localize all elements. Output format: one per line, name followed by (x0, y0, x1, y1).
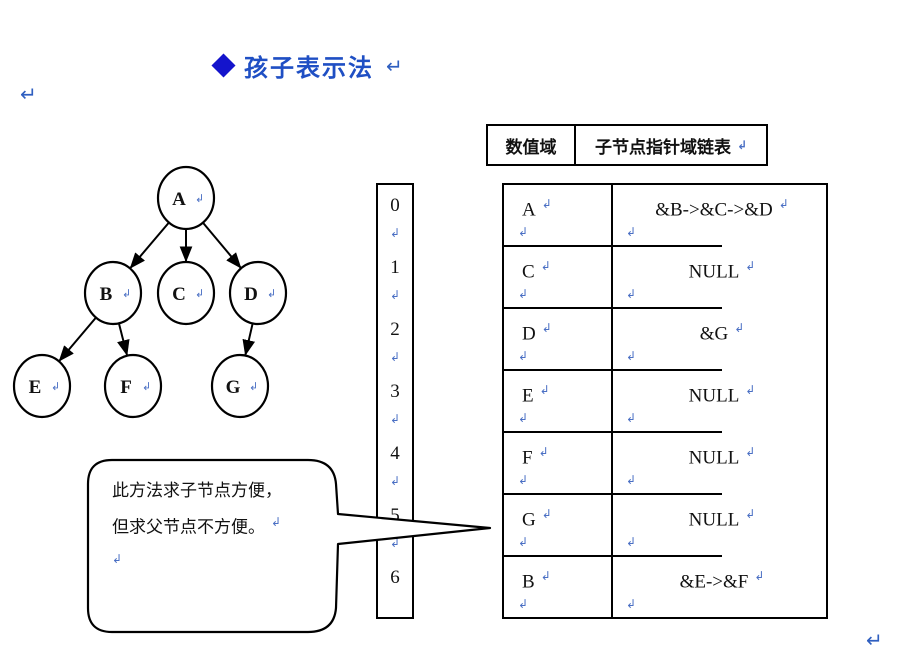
header-cell-child-pointer-list: 子节点指针域链表 ↲ (576, 124, 768, 166)
index-cell-mark-icon: ↲ (378, 226, 412, 240)
table-cell-mark-icon: ↲ (745, 445, 755, 459)
table-cell-mark-icon: ↲ (542, 321, 552, 335)
table-row-value-mark-icon: ↲ (626, 535, 636, 549)
tree-edge-A-D (203, 222, 241, 268)
table-row-key: E↲ (522, 383, 550, 407)
table-cell-mark-icon: ↲ (745, 507, 755, 521)
tree-node-mark-icon: ↲ (142, 380, 151, 393)
tree-node-label: F (120, 377, 132, 398)
table-cell-mark-icon: ↲ (745, 259, 755, 273)
callout-mark-icon: ↲ (271, 515, 281, 529)
table-row-separator (504, 307, 722, 309)
table-row-value: NULL↲ (614, 259, 830, 283)
tree-node-circle (105, 355, 161, 417)
tree-nodes: A↲B↲C↲D↲E↲F↲G↲ (14, 167, 286, 417)
tree-node-label: A (172, 189, 186, 210)
tree-node-label: E (29, 377, 42, 398)
table-row-value-mark-icon: ↲ (626, 411, 636, 425)
table-row-separator (504, 431, 722, 433)
table-cell-mark-icon: ↲ (540, 383, 550, 397)
tree-node-label: C (172, 284, 186, 305)
table-row-value: NULL↲ (614, 445, 830, 469)
table-row-value-label: &B->&C->&D (655, 199, 773, 220)
diamond-bullet-icon (211, 53, 235, 77)
index-cell-mark-icon: ↲ (378, 288, 412, 302)
tree-node-mark-icon: ↲ (122, 287, 131, 300)
table-row-key-label: F (522, 447, 533, 468)
table-row-value: NULL↲ (614, 383, 830, 407)
tree-node-mark-icon: ↲ (195, 192, 204, 205)
header-mark-icon: ↲ (737, 138, 747, 152)
tree-node-circle (158, 167, 214, 229)
table-row-value-mark-icon: ↲ (626, 349, 636, 363)
header-cell-child-pointer-list-label: 子节点指针域链表 (595, 133, 731, 158)
table-row-value-label: &E->&F (680, 571, 749, 592)
index-cell-mark-icon: ↲ (378, 350, 412, 364)
page-title-text: 孩子表示法 (244, 48, 374, 83)
table-row-key: B↲ (522, 569, 551, 593)
table-row-separator (504, 245, 722, 247)
table-row-key: C↲ (522, 259, 551, 283)
table-row-value-mark-icon: ↲ (626, 473, 636, 487)
table-row-key: A↲ (522, 197, 552, 221)
table-row-key-label: D (522, 323, 536, 344)
tree-edge-B-F (119, 323, 127, 355)
header-cell-value-domain: 数值域 (486, 124, 576, 166)
table-row-key-label: G (522, 509, 536, 530)
index-cell: 3 (378, 381, 412, 403)
table-cell-mark-icon: ↲ (779, 197, 789, 211)
table-row-key: D↲ (522, 321, 552, 345)
table-row-value-label: NULL (689, 385, 740, 406)
tree-node-D: D↲ (230, 262, 286, 324)
table-row-key-mark-icon: ↲ (518, 287, 528, 301)
callout-line-1: 此方法求子节点方便， (112, 476, 342, 507)
table-cell-mark-icon: ↲ (734, 321, 744, 335)
table-cell-mark-icon: ↲ (745, 383, 755, 397)
tree-edge-D-G (245, 323, 252, 355)
table-row-value-label: NULL (689, 447, 740, 468)
table-cell-mark-icon: ↲ (539, 445, 549, 459)
table-row-key-mark-icon: ↲ (518, 225, 528, 239)
table-row-value: &G↲ (614, 321, 830, 345)
table-cell-mark-icon: ↲ (754, 569, 764, 583)
table-cell-mark-icon: ↲ (541, 259, 551, 273)
table-row-key-mark-icon: ↲ (518, 597, 528, 611)
bottom-right-return-mark-icon: ↵ (866, 630, 883, 650)
table-row-key-mark-icon: ↲ (518, 473, 528, 487)
tree-node-B: B↲ (85, 262, 141, 324)
tree-node-mark-icon: ↲ (267, 287, 276, 300)
table-cell-mark-icon: ↲ (542, 507, 552, 521)
tree-edge-A-B (130, 222, 169, 268)
table-row-value: &E->&F↲ (614, 569, 830, 593)
title-return-mark-icon: ↵ (386, 56, 403, 76)
tree-node-label: D (244, 284, 258, 305)
table-row-separator (504, 555, 722, 557)
table-row-value-label: NULL (689, 509, 740, 530)
tree-node-label: B (100, 284, 113, 305)
callout-line-2: 但求父节点不方便。 (112, 518, 265, 538)
callout-trailing-mark-icon: ↲ (112, 544, 342, 575)
table-cell-mark-icon: ↲ (541, 569, 551, 583)
tree-node-mark-icon: ↲ (195, 287, 204, 300)
tree-node-A: A↲ (158, 167, 214, 229)
table-row-key-mark-icon: ↲ (518, 411, 528, 425)
tree-node-circle (14, 355, 70, 417)
tree-node-C: C↲ (158, 262, 214, 324)
table-row-value: NULL↲ (614, 507, 830, 531)
table-cell-mark-icon: ↲ (542, 197, 552, 211)
table-row-key: F↲ (522, 445, 549, 469)
table-column-divider (611, 185, 613, 617)
table-row-value-mark-icon: ↲ (626, 225, 636, 239)
table-row-key-mark-icon: ↲ (518, 535, 528, 549)
table-row-key-label: B (522, 571, 535, 592)
table-row-key-label: E (522, 385, 534, 406)
tree-node-mark-icon: ↲ (249, 380, 258, 393)
table-row-key-label: C (522, 261, 535, 282)
slide-canvas: 孩子表示法 ↵ ↵ ↵ 数值域 子节点指针域链表 ↲ A↲B↲C↲D↲E↲F↲G… (0, 0, 902, 668)
callout-text: 此方法求子节点方便， 但求父节点不方便。↲ ↲ (112, 476, 342, 575)
table-row-value-label: NULL (689, 261, 740, 282)
table-row-value: &B->&C->&D↲ (614, 197, 830, 221)
tree-node-circle (158, 262, 214, 324)
tree-node-label: G (226, 377, 241, 398)
table-row-separator (504, 493, 722, 495)
tree-node-G: G↲ (212, 355, 268, 417)
table-row-key-label: A (522, 199, 536, 220)
child-list-table: A↲&B->&C->&D↲↲↲C↲NULL↲↲↲D↲&G↲↲↲E↲NULL↲↲↲… (502, 183, 828, 619)
table-row-value-mark-icon: ↲ (626, 287, 636, 301)
tree-diagram: A↲B↲C↲D↲E↲F↲G↲ (0, 160, 320, 430)
index-cell: 1 (378, 257, 412, 279)
index-cell: 0 (378, 195, 412, 217)
table-row-key-mark-icon: ↲ (518, 349, 528, 363)
tree-node-E: E↲ (14, 355, 70, 417)
table-row-key: G↲ (522, 507, 552, 531)
top-left-return-mark-icon: ↵ (20, 84, 37, 104)
callout-line-2-row: 但求父节点不方便。↲ (112, 507, 342, 544)
tree-node-circle (230, 262, 286, 324)
table-row-value-label: &G (700, 323, 729, 344)
tree-node-mark-icon: ↲ (51, 380, 60, 393)
table-header-boxes: 数值域 子节点指针域链表 ↲ (486, 124, 768, 166)
table-row-separator (504, 369, 722, 371)
index-cell: 2 (378, 319, 412, 341)
tree-node-F: F↲ (105, 355, 161, 417)
index-cell-mark-icon: ↲ (378, 412, 412, 426)
tree-edge-B-E (59, 317, 96, 361)
page-title: 孩子表示法 ↵ (215, 48, 403, 83)
table-row-value-mark-icon: ↲ (626, 597, 636, 611)
tree-node-circle (85, 262, 141, 324)
